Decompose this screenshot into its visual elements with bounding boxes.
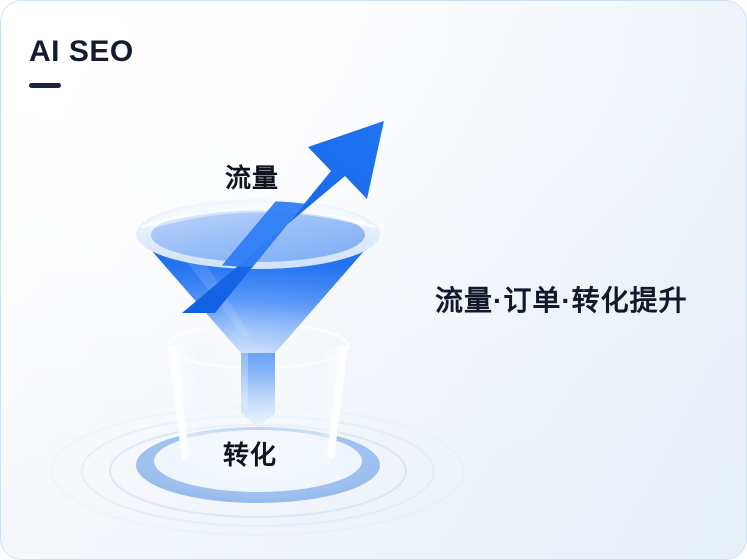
illustration-card: AI SEO 流量·订单·转化提升 [0, 0, 747, 560]
title-underline-rule [29, 83, 61, 88]
label-conversion: 转化 [223, 435, 277, 472]
header: AI SEO [29, 37, 134, 88]
page-title: AI SEO [29, 37, 134, 67]
label-traffic: 流量 [225, 158, 279, 195]
tagline-text: 流量·订单·转化提升 [435, 279, 688, 319]
